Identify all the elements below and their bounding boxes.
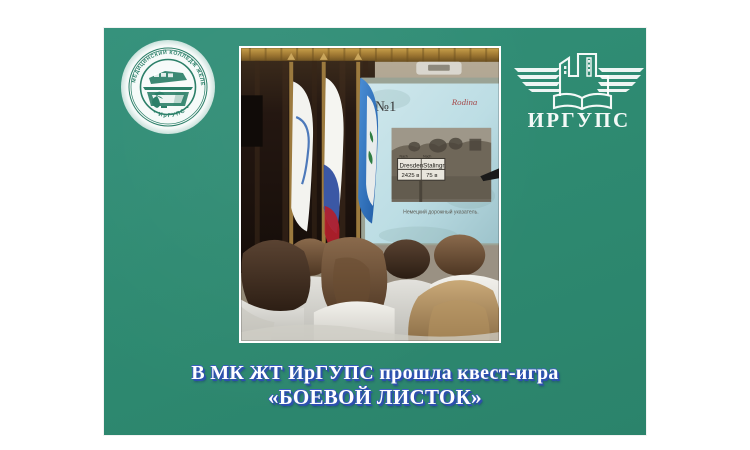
classroom-photo: №1 Rodina: [239, 46, 501, 343]
caption-line-1: В МК ЖТ ИрГУПС прошла квест-игра: [104, 362, 646, 384]
svg-text:Nach: Nach: [400, 155, 408, 159]
college-seal-logo: МЕДИЦИНСКИЙ КОЛЛЕДЖ ЖЕЛЕЗНОДОРОЖНОГО ТРА…: [121, 40, 215, 134]
svg-text:75 в: 75 в: [426, 173, 437, 179]
irgups-logo-icon: ИРГУПС: [512, 46, 646, 132]
svg-text:Nach: Nach: [423, 155, 431, 159]
seal-artwork-icon: МЕДИЦИНСКИЙ КОЛЛЕДЖ ЖЕЛЕЗНОДОРОЖНОГО ТРА…: [121, 40, 215, 134]
classroom-photo-artwork: №1 Rodina: [241, 48, 499, 341]
svg-text:Rodina: Rodina: [451, 97, 478, 107]
svg-text:2425 в: 2425 в: [402, 173, 420, 179]
poster-root: МЕДИЦИНСКИЙ КОЛЛЕДЖ ЖЕЛЕЗНОДОРОЖНОГО ТРА…: [0, 0, 750, 450]
irgups-logo: ИРГУПС: [512, 46, 646, 132]
poster-caption: В МК ЖТ ИрГУПС прошла квест-игра «БОЕВОЙ…: [104, 362, 646, 410]
svg-text:Stalingr.: Stalingr.: [423, 162, 446, 169]
slide-caption-label: Немецкий дорожный указатель.: [403, 209, 479, 216]
caption-line-2: «БОЕВОЙ ЛИСТОК»: [104, 386, 646, 410]
svg-text:Dresden: Dresden: [400, 162, 424, 169]
poster-card: МЕДИЦИНСКИЙ КОЛЛЕДЖ ЖЕЛЕЗНОДОРОЖНОГО ТРА…: [104, 28, 646, 435]
slide-number-label: №1: [375, 99, 396, 115]
irgups-logo-label: ИРГУПС: [528, 108, 631, 132]
